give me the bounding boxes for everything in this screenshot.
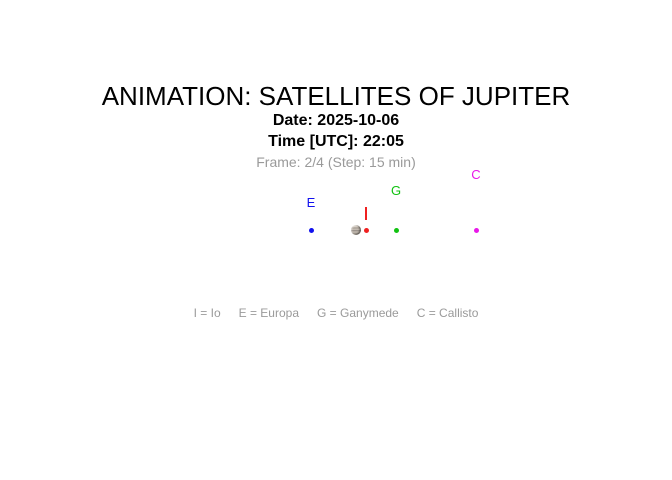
jupiter-disk bbox=[351, 225, 361, 235]
legend-entry: I = Io bbox=[194, 306, 221, 320]
moon-dot-io bbox=[364, 228, 369, 233]
moon-label-callisto: C bbox=[466, 168, 486, 181]
moon-label-ganymede: G bbox=[386, 184, 406, 197]
legend-entry: G = Ganymede bbox=[317, 306, 399, 320]
moon-dot-ganymede bbox=[394, 228, 399, 233]
moon-dot-callisto bbox=[474, 228, 479, 233]
orbit-plane: IEGC bbox=[0, 0, 672, 480]
legend-entry: E = Europa bbox=[239, 306, 299, 320]
moon-label-io: I bbox=[356, 209, 376, 222]
legend: I = IoE = EuropaG = GanymedeC = Callisto bbox=[0, 306, 672, 320]
animation-canvas: ANIMATION: SATELLITES OF JUPITER Date: 2… bbox=[0, 0, 672, 480]
moon-dot-europa bbox=[309, 228, 314, 233]
moon-label-europa: E bbox=[301, 196, 321, 209]
legend-entry: C = Callisto bbox=[417, 306, 479, 320]
